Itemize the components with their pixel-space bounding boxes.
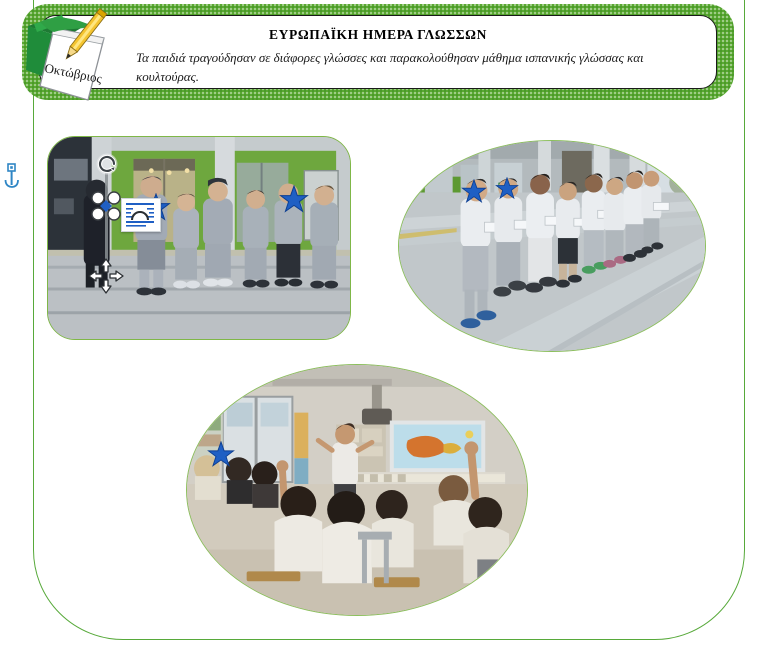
photo-school-courtyard-group[interactable] [47, 136, 351, 340]
photo-children-singing-image [399, 141, 705, 351]
photo-spanish-lesson-classroom[interactable] [186, 364, 528, 616]
page-title: ΕΥΡΩΠΑΪΚΗ ΗΜΕΡΑ ΓΛΩΣΣΩΝ [40, 27, 716, 43]
photo-school-courtyard-image [48, 137, 350, 339]
photo-spanish-lesson-image [187, 365, 527, 615]
move-four-dot-cursor-icon[interactable] [86, 186, 126, 226]
header-banner[interactable]: ΕΥΡΩΠΑΪΚΗ ΗΜΕΡΑ ΓΛΩΣΣΩΝ Τα παιδιά τραγού… [22, 4, 734, 100]
document-page: ΕΥΡΩΠΑΪΚΗ ΗΜΕΡΑ ΓΛΩΣΣΩΝ Τα παιδιά τραγού… [0, 0, 760, 656]
banner-description: Τα παιδιά τραγούδησαν σε διάφορες γλώσσε… [136, 48, 702, 86]
move-four-arrow-cursor-icon[interactable] [88, 258, 124, 294]
notepad-pencil-icon: Οκτώβριος [18, 8, 122, 104]
layout-options-wrap-text-icon[interactable] [121, 198, 161, 232]
header-banner-inner: ΕΥΡΩΠΑΪΚΗ ΗΜΕΡΑ ΓΛΩΣΣΩΝ Τα παιδιά τραγού… [39, 15, 717, 89]
object-anchor-icon [3, 163, 21, 189]
photo-children-singing-outdoors[interactable] [398, 140, 706, 352]
rotate-handle-icon[interactable] [95, 152, 119, 176]
